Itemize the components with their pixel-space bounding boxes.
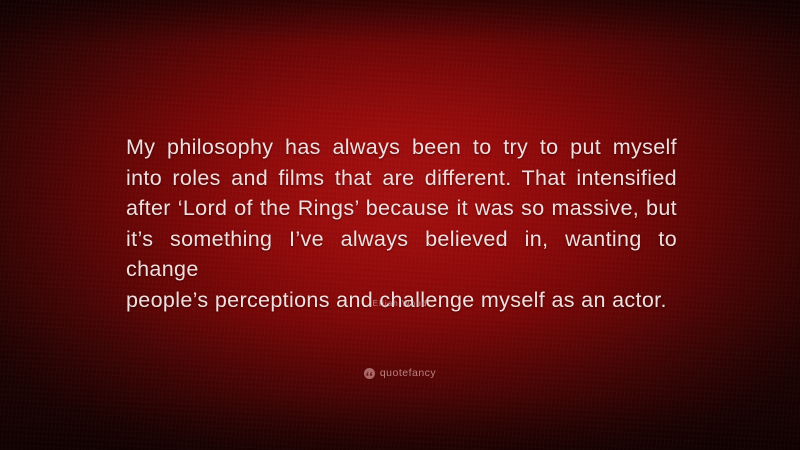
quote-text-block: My philosophy has always been to try to … <box>126 132 677 316</box>
quote-line: into roles and films that are different.… <box>126 163 677 194</box>
quote-line: after ‘Lord of the Rings’ because it was… <box>126 193 677 224</box>
quote-line: it’s something I’ve always believed in, … <box>126 224 677 285</box>
quote-author: Elijah Wood <box>0 299 800 308</box>
quote-card: My philosophy has always been to try to … <box>0 0 800 450</box>
card-content: My philosophy has always been to try to … <box>0 0 800 450</box>
watermark-brand: quotefancy <box>380 367 436 379</box>
quote-line: My philosophy has always been to try to … <box>126 132 677 163</box>
quote-badge-icon <box>364 368 375 379</box>
watermark[interactable]: quotefancy <box>0 367 800 379</box>
